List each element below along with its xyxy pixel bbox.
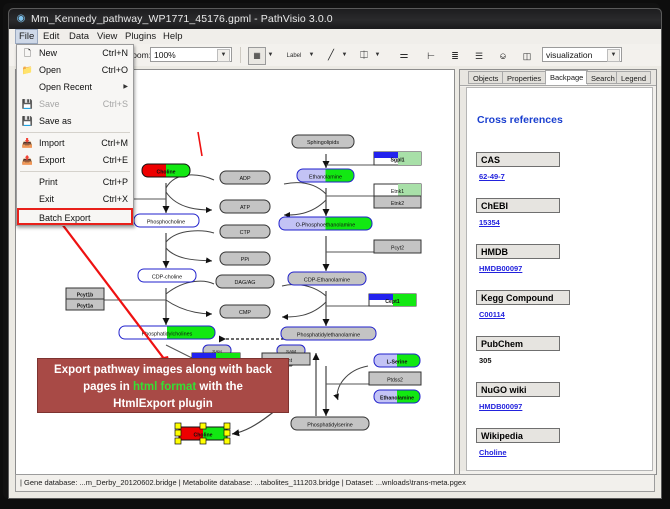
file-menu-label-print: Print <box>39 174 58 191</box>
visualization-value: visualization <box>546 50 592 60</box>
import-icon: 📥 <box>21 137 34 150</box>
align-center-icon[interactable]: ≣ <box>446 47 464 65</box>
callout-line-3: HtmlExport plugin <box>38 396 288 413</box>
xref-link-kegg[interactable]: C00114 <box>479 310 505 319</box>
file-menu-label-save: Save <box>39 96 60 113</box>
menu-file[interactable]: File <box>15 29 38 44</box>
shape-tool-icon[interactable]: ⎅ <box>355 47 373 65</box>
file-menu-shortcut-new: Ctrl+N <box>102 45 128 62</box>
svg-text:Pcyt1a: Pcyt1a <box>77 304 93 310</box>
toolbar-separator <box>240 47 241 63</box>
chevron-down-icon[interactable]: ▼ <box>217 49 230 62</box>
svg-text:Sphingolipids: Sphingolipids <box>307 140 339 146</box>
svg-text:Phosphocholine: Phosphocholine <box>147 220 185 226</box>
xref-db-hmdb: HMDB <box>476 244 560 259</box>
file-menu-separator <box>20 132 130 133</box>
title-bar: ◉ Mm_Kennedy_pathway_WP1771_45176.gpml -… <box>9 9 661 29</box>
file-menu-label-save-as: Save as <box>39 113 72 130</box>
file-menu-popup[interactable]: 🗋 New Ctrl+N 📁 Open Ctrl+O Open Recent ▶… <box>16 44 134 226</box>
svg-text:SAH: SAH <box>212 349 221 354</box>
shape-dropdown-icon[interactable]: ▼ <box>374 52 381 59</box>
xref-db-cas: CAS <box>476 152 560 167</box>
file-menu-label-open-recent: Open Recent <box>39 79 92 96</box>
svg-text:Etnk2: Etnk2 <box>391 201 404 207</box>
tab-objects[interactable]: Objects <box>468 71 503 84</box>
svg-text:CDP-choline: CDP-choline <box>152 275 182 281</box>
svg-text:CDP-Ethanolamine: CDP-Ethanolamine <box>304 278 350 284</box>
side-panel-tabs: Objects Properties Backpage Search Legen… <box>460 70 656 86</box>
tab-legend[interactable]: Legend <box>616 71 651 84</box>
status-bar: | Gene database: ...m_Derby_20120602.bri… <box>15 474 655 492</box>
file-menu-label-export: Export <box>39 152 65 169</box>
xref-link-chebi[interactable]: 15354 <box>479 218 500 227</box>
file-menu-shortcut-save: Ctrl+S <box>103 96 128 113</box>
file-menu-shortcut-import: Ctrl+M <box>101 135 128 152</box>
visualization-combobox[interactable]: visualization ▼ <box>542 47 622 62</box>
xref-link-wikipedia[interactable]: Choline <box>479 448 507 457</box>
callout-line-2-before: pages in <box>83 381 133 393</box>
callout-line-1: Export pathway images along with back <box>38 362 288 379</box>
svg-text:Ptdss2: Ptdss2 <box>387 378 403 384</box>
file-menu-item-save-as[interactable]: 💾 Save as <box>17 113 133 130</box>
svg-text:Sgpl1: Sgpl1 <box>390 158 404 164</box>
new-document-icon: 🗋 <box>21 47 34 60</box>
file-menu-shortcut-export: Ctrl+E <box>103 152 128 169</box>
label-dropdown-icon[interactable]: ▼ <box>308 52 315 59</box>
file-menu-shortcut-print: Ctrl+P <box>103 174 128 191</box>
export-icon: 📤 <box>21 154 34 167</box>
gene-product-tool-icon[interactable]: ▦ <box>248 47 266 65</box>
xref-db-wikipedia: Wikipedia <box>476 428 560 443</box>
open-folder-icon: 📁 <box>21 64 34 77</box>
file-menu-item-new[interactable]: 🗋 New Ctrl+N <box>17 45 133 62</box>
file-menu-item-open[interactable]: 📁 Open Ctrl+O <box>17 62 133 79</box>
file-menu-label-exit: Exit <box>39 191 54 208</box>
svg-text:Ethanolamine: Ethanolamine <box>380 396 414 402</box>
zoom-value: 100% <box>154 50 176 60</box>
chevron-right-icon: ▶ <box>123 84 128 91</box>
annotation-callout: Export pathway images along with back pa… <box>37 358 289 413</box>
svg-text:CMP: CMP <box>239 310 251 316</box>
file-menu-item-open-recent[interactable]: Open Recent ▶ <box>17 79 133 96</box>
side-panel: Objects Properties Backpage Search Legen… <box>459 69 657 475</box>
svg-text:Ethanolamine: Ethanolamine <box>309 175 342 181</box>
xref-db-chebi: ChEBI <box>476 198 560 213</box>
chevron-down-icon[interactable]: ▼ <box>607 49 620 62</box>
svg-text:Etnk1: Etnk1 <box>391 189 404 195</box>
file-menu-item-export[interactable]: 📤 Export Ctrl+E <box>17 152 133 169</box>
xref-db-nugo: NuGO wiki <box>476 382 560 397</box>
svg-text:Phosphatidylethanolamine: Phosphatidylethanolamine <box>297 333 360 339</box>
file-menu-separator-2 <box>20 171 130 172</box>
svg-text:Pcyt1b: Pcyt1b <box>77 293 93 299</box>
distribute-icon[interactable]: ☰ <box>470 47 488 65</box>
xref-link-cas[interactable]: 62-49-7 <box>479 172 505 181</box>
menu-data[interactable]: Data <box>65 30 93 43</box>
tab-backpage[interactable]: Backpage <box>545 70 588 85</box>
pathvisio-window: ◉ Mm_Kennedy_pathway_WP1771_45176.gpml -… <box>8 8 662 499</box>
xref-link-hmdb[interactable]: HMDB00097 <box>479 264 522 273</box>
tab-properties[interactable]: Properties <box>502 71 546 84</box>
xref-value-pubchem: 305 <box>479 356 492 365</box>
status-bar-text: | Gene database: ...m_Derby_20120602.bri… <box>20 476 466 490</box>
file-menu-item-batch-export[interactable]: Batch Export <box>17 208 133 225</box>
file-menu-shortcut-open: Ctrl+O <box>102 62 128 79</box>
line-tool-icon[interactable]: ╱ <box>322 47 340 65</box>
file-menu-item-import[interactable]: 📥 Import Ctrl+M <box>17 135 133 152</box>
zoom-combobox[interactable]: 100% ▼ <box>150 47 232 62</box>
file-menu-label-import: Import <box>39 135 65 152</box>
svg-text:Cept1: Cept1 <box>385 299 400 305</box>
file-menu-item-print[interactable]: Print Ctrl+P <box>17 174 133 191</box>
cross-references-heading: Cross references <box>477 114 563 126</box>
tab-search[interactable]: Search <box>586 71 620 84</box>
save-disk-icon: 💾 <box>21 98 34 111</box>
svg-text:Pcyt2: Pcyt2 <box>391 246 404 252</box>
label-tool[interactable]: Label <box>281 47 307 65</box>
desktop-background: ◉ Mm_Kennedy_pathway_WP1771_45176.gpml -… <box>0 0 670 509</box>
svg-text:ATP: ATP <box>240 205 250 211</box>
anchor-tool-icon[interactable]: ⚌ <box>395 47 413 65</box>
svg-text:Phosphatidylcholines: Phosphatidylcholines <box>142 332 193 338</box>
gene-product-dropdown-icon[interactable]: ▼ <box>267 52 274 59</box>
menu-help[interactable]: Help <box>159 30 187 43</box>
callout-line-2: pages in html format with the <box>38 379 288 396</box>
svg-text:DAG/AG: DAG/AG <box>235 280 256 286</box>
file-menu-item-save: 💾 Save Ctrl+S <box>17 96 133 113</box>
align-left-icon[interactable]: ⊢ <box>422 47 440 65</box>
menu-edit[interactable]: Edit <box>39 30 63 43</box>
svg-text:ADP: ADP <box>239 176 250 182</box>
pathvisio-app-icon: ◉ <box>15 13 27 25</box>
xref-link-nugo[interactable]: HMDB00097 <box>479 402 522 411</box>
svg-text:CTP: CTP <box>240 230 251 236</box>
xref-db-pubchem: PubChem <box>476 336 560 351</box>
svg-text:PPi: PPi <box>241 257 249 263</box>
file-menu-label-batch-export: Batch Export <box>39 210 91 227</box>
menu-bar: File Edit Data View Plugins Help <box>9 29 661 45</box>
file-menu-shortcut-exit: Ctrl+X <box>103 191 128 208</box>
window-title: Mm_Kennedy_pathway_WP1771_45176.gpml - P… <box>31 12 333 26</box>
menu-view[interactable]: View <box>93 30 121 43</box>
svg-text:O-Phosphoethanolamine: O-Phosphoethanolamine <box>296 223 356 229</box>
callout-highlight: html format <box>133 381 196 393</box>
backpage-content: Cross references CAS 62-49-7 ChEBI 15354… <box>466 87 653 471</box>
file-menu-label-new: New <box>39 45 57 62</box>
svg-text:Choline: Choline <box>193 433 212 439</box>
line-dropdown-icon[interactable]: ▼ <box>341 52 348 59</box>
menu-plugins[interactable]: Plugins <box>121 30 160 43</box>
svg-text:SAM: SAM <box>286 349 296 354</box>
svg-text:Phosphatidylserine: Phosphatidylserine <box>307 423 353 429</box>
save-as-icon: 💾 <box>21 115 34 128</box>
file-menu-item-exit[interactable]: Exit Ctrl+X <box>17 191 133 208</box>
file-menu-label-open: Open <box>39 62 61 79</box>
group-icon[interactable]: ⎉ <box>494 47 512 65</box>
order-icon[interactable]: ◫ <box>518 47 536 65</box>
svg-text:Choline: Choline <box>156 170 175 176</box>
xref-db-kegg: Kegg Compound <box>476 290 570 305</box>
svg-text:L-Serine: L-Serine <box>387 360 408 366</box>
callout-line-2-after: with the <box>196 381 243 393</box>
